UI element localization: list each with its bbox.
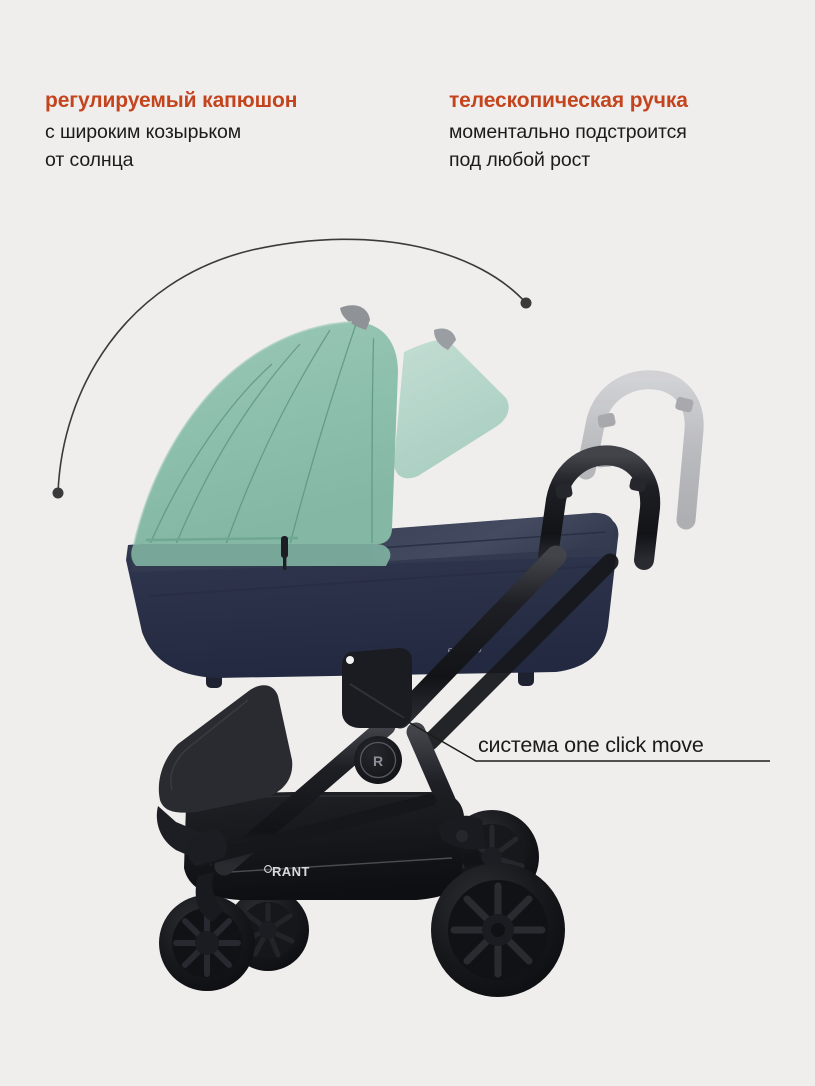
canopy-main bbox=[134, 322, 398, 544]
canopy-rear-panel bbox=[394, 340, 509, 478]
svg-text:RANT: RANT bbox=[272, 864, 310, 879]
feature-body-line: с широким козырьком bbox=[45, 119, 415, 147]
svg-text:R: R bbox=[373, 753, 383, 769]
feature-body-line: от солнца bbox=[45, 147, 415, 175]
feature-title-handle: телескопическая ручка bbox=[449, 88, 789, 115]
product-feature-card: RANT energy bbox=[0, 0, 815, 1086]
feature-body-handle: моментально подстроится под любой рост bbox=[449, 119, 789, 174]
basket-brand-mark: RANT bbox=[265, 864, 310, 879]
frame-hub-logo: R bbox=[354, 736, 402, 784]
feature-body-line: под любой рост bbox=[449, 147, 789, 175]
feature-block-handle: телескопическая ручка моментально подстр… bbox=[449, 88, 789, 174]
feature-block-canopy: регулируемый капюшон с широким козырьком… bbox=[45, 88, 415, 174]
feature-body-line: моментально подстроится bbox=[449, 119, 789, 147]
feature-title-canopy: регулируемый капюшон bbox=[45, 88, 415, 115]
wheel-rear bbox=[431, 863, 565, 997]
canopy-hem bbox=[131, 544, 390, 566]
caption-one-click-move: система one click move bbox=[478, 733, 704, 758]
bassinet-mount-bracket bbox=[342, 648, 412, 728]
release-indicator-dot bbox=[346, 656, 354, 664]
feature-body-canopy: с широким козырьком от солнца bbox=[45, 119, 415, 174]
